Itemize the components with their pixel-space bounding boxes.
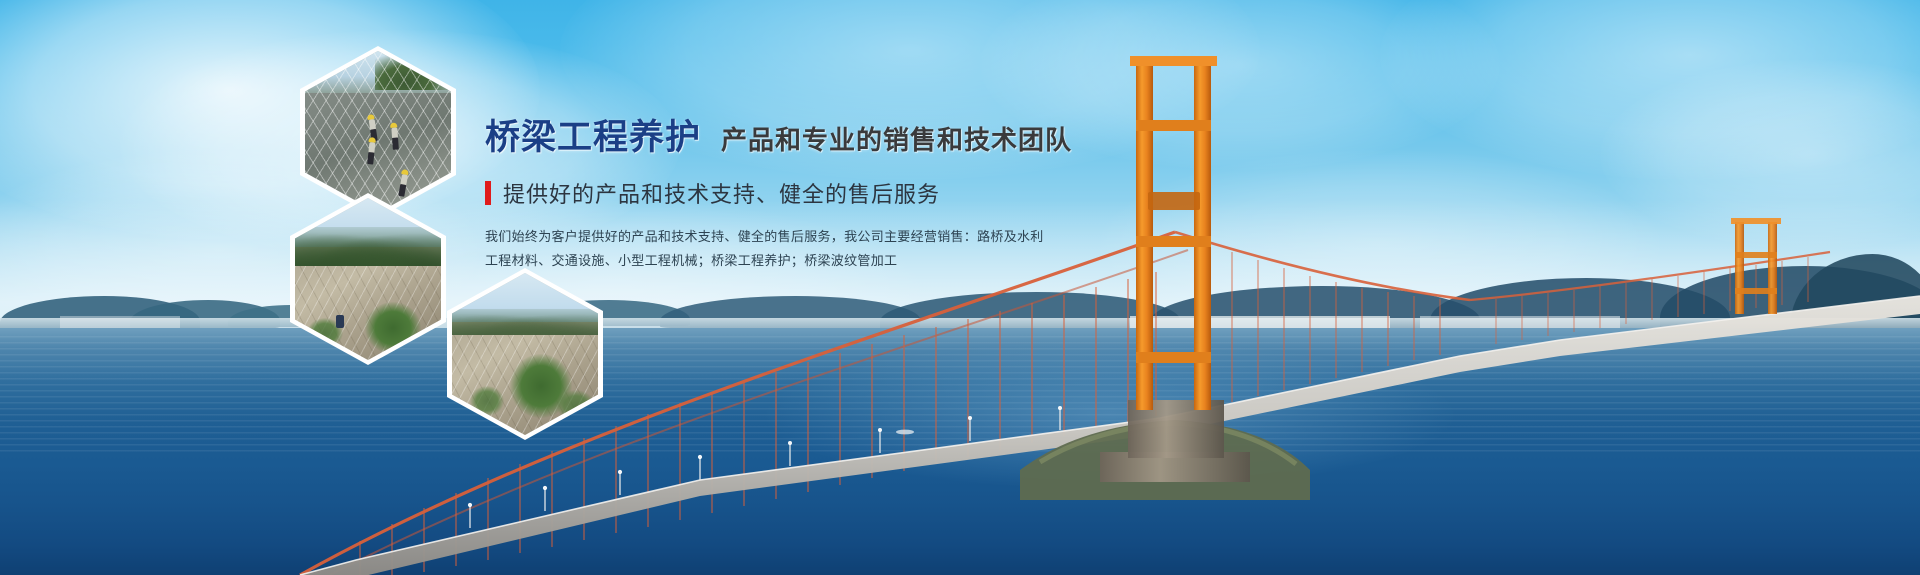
photo-bush bbox=[470, 386, 504, 416]
rock-slope-mesh-installation-photo bbox=[305, 51, 451, 213]
accent-bar bbox=[485, 181, 491, 205]
banner-headline: 桥梁工程养护 产品和专业的销售和技术团队 bbox=[485, 120, 1105, 155]
worker-legs bbox=[392, 137, 399, 149]
banner-body-copy: 我们始终为客户提供好的产品和技术支持、健全的售后服务，我公司主要经营销售：路桥及… bbox=[485, 225, 985, 273]
coastal-town bbox=[1420, 316, 1620, 328]
coastal-town bbox=[1130, 316, 1390, 328]
vegetated-slope-net-photo bbox=[452, 273, 598, 435]
hexagon-photo-3-image bbox=[452, 273, 598, 435]
body-line-1: 我们始终为客户提供好的产品和技术支持、健全的售后服务，我公司主要经营销售：路桥及… bbox=[485, 225, 985, 249]
worker-figure bbox=[336, 315, 344, 328]
protection-net-mesh bbox=[305, 51, 451, 213]
body-line-2: 工程材料、交通设施、小型工程机械；桥梁工程养护；桥梁波纹管加工 bbox=[485, 249, 985, 273]
hillside-slope-protection-net-photo bbox=[295, 198, 441, 360]
headline-secondary: 产品和专业的销售和技术团队 bbox=[721, 127, 1072, 153]
hexagon-photo-2-image bbox=[295, 198, 441, 360]
hero-banner: 桥梁工程养护 产品和专业的销售和技术团队 提供好的产品和技术支持、健全的售后服务… bbox=[0, 0, 1920, 575]
subheading-text: 提供好的产品和技术支持、健全的售后服务 bbox=[503, 177, 940, 209]
coastal-town bbox=[60, 316, 180, 328]
headline-primary: 桥梁工程养护 bbox=[485, 120, 701, 155]
hexagon-photo-1-image bbox=[305, 51, 451, 213]
banner-text-block: 桥梁工程养护 产品和专业的销售和技术团队 提供好的产品和技术支持、健全的售后服务… bbox=[485, 120, 1105, 273]
water-glow bbox=[760, 340, 1460, 490]
banner-subheading: 提供好的产品和技术支持、健全的售后服务 bbox=[485, 177, 1105, 209]
worker-legs bbox=[367, 152, 374, 165]
